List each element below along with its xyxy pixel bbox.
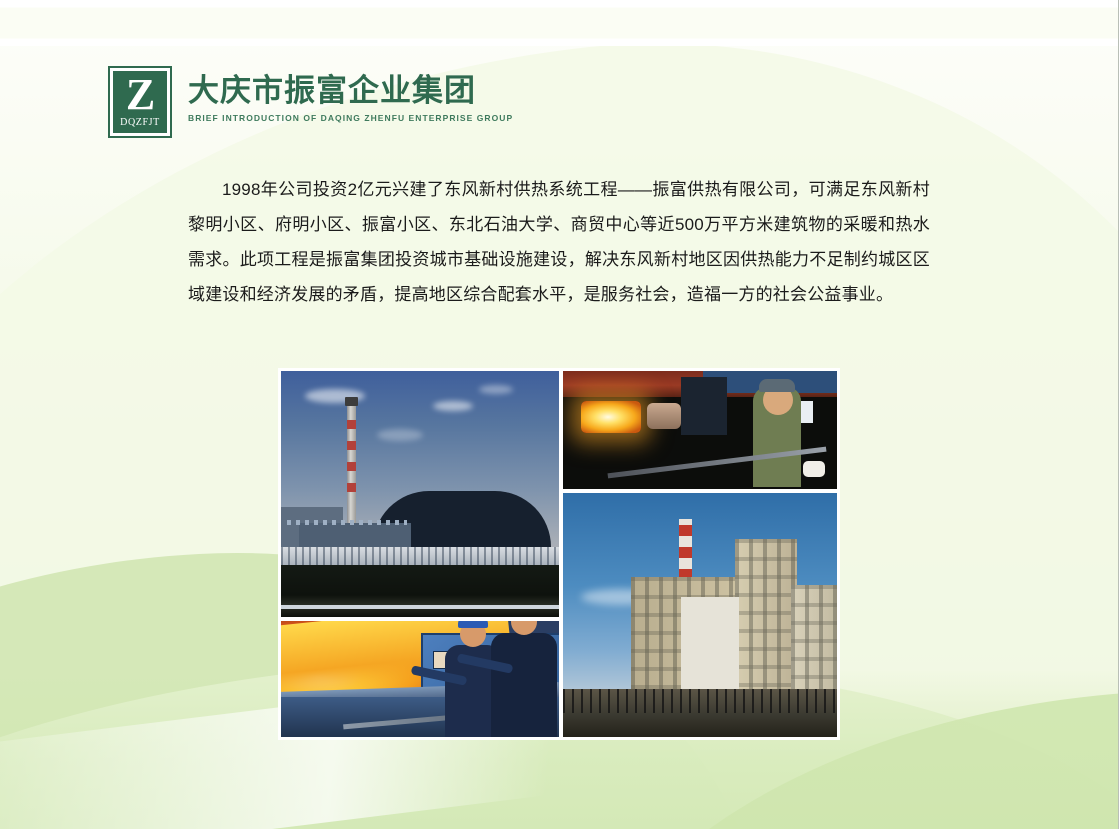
photo-collage bbox=[278, 368, 840, 740]
logo-letter-z: Z bbox=[126, 74, 154, 116]
photo-plant-exterior bbox=[281, 371, 559, 617]
photo-control-workers bbox=[281, 621, 559, 737]
company-name-chinese: 大庆市振富企业集团 bbox=[188, 74, 513, 108]
logo-abbreviation: DQZFJT bbox=[120, 117, 160, 128]
collage-left-column bbox=[281, 371, 559, 737]
company-name-english: BRIEF INTRODUCTION OF DAQING ZHENFU ENTE… bbox=[188, 113, 513, 123]
photo-boiler-house bbox=[563, 493, 837, 737]
collage-right-column bbox=[563, 371, 837, 737]
company-logo-icon: Z DQZFJT bbox=[108, 66, 172, 138]
brand-text-block: 大庆市振富企业集团 BRIEF INTRODUCTION OF DAQING Z… bbox=[188, 66, 513, 123]
body-paragraph: 1998年公司投资2亿元兴建了东风新村供热系统工程——振富供热有限公司，可满足东… bbox=[188, 172, 930, 312]
brand-header: Z DQZFJT 大庆市振富企业集团 BRIEF INTRODUCTION OF… bbox=[108, 66, 513, 138]
photo-furnace-operator bbox=[563, 371, 837, 489]
slide-canvas: Z DQZFJT 大庆市振富企业集团 BRIEF INTRODUCTION OF… bbox=[0, 0, 1119, 829]
slide-content: Z DQZFJT 大庆市振富企业集团 BRIEF INTRODUCTION OF… bbox=[0, 0, 1118, 829]
